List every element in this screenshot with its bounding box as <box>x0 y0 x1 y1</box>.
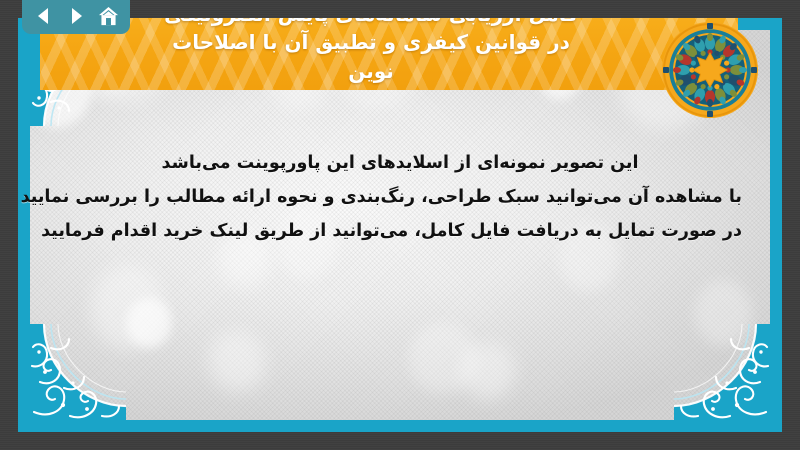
home-icon <box>98 6 119 27</box>
slide-body-line-2: با مشاهده آن می‌توانید سبک طراحی، رنگ‌بن… <box>58 180 742 214</box>
slide-body-line-1: این تصویر نمونه‌ای از اسلایدهای این پاور… <box>58 146 742 180</box>
triangle-left-icon <box>34 6 54 26</box>
slide-title-line-3: نوین <box>44 57 698 85</box>
bokeh-circle <box>460 342 516 400</box>
bokeh-circle <box>126 298 172 348</box>
slide-body-line-3: در صورت تمایل به دریافت فایل کامل، می‌تو… <box>58 214 742 248</box>
bokeh-circle <box>208 330 266 392</box>
slide-title-line-1: کامل ارزیابی سامانه‌های پایش الکترونیکی <box>44 18 698 28</box>
slide-title-line-2: در قوانین کیفری و تطبیق آن با اصلاحات <box>44 28 698 56</box>
arabesque-corner-icon <box>18 324 126 432</box>
home-button[interactable] <box>95 3 121 29</box>
persian-mandala-medallion <box>660 20 760 120</box>
slide-title: کامل ارزیابی سامانه‌های پایش الکترونیکی … <box>44 18 698 85</box>
slide-navigation-bar <box>22 0 130 34</box>
slide-canvas: کامل ارزیابی سامانه‌های پایش الکترونیکی … <box>18 18 782 432</box>
arabesque-corner-icon <box>674 324 782 432</box>
next-slide-button[interactable] <box>63 3 89 29</box>
previous-slide-button[interactable] <box>31 3 57 29</box>
triangle-right-icon <box>66 6 86 26</box>
presentation-viewer: کامل ارزیابی سامانه‌های پایش الکترونیکی … <box>0 0 800 450</box>
slide-body-text: این تصویر نمونه‌ای از اسلایدهای این پاور… <box>58 146 742 248</box>
